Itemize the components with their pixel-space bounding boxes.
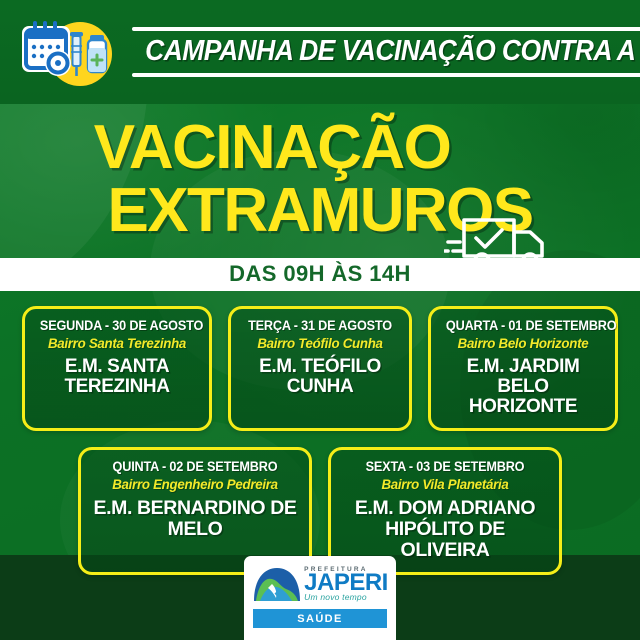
card-school: E.M. DOM ADRIANO HIPÓLITO DE OLIVEIRA [341,498,549,561]
logo-wordmark: PREFEITURA JAPERI Um novo tempo [304,567,388,602]
header-icon-cluster [14,10,118,96]
mountain-bird-logo-icon [252,565,302,603]
header-title-block: CAMPANHA DE VACINAÇÃO CONTRA A COVID-19 [118,27,640,77]
card-date: QUINTA - 02 DE SETEMBRO [97,459,293,474]
hero-section: VACINAÇÃO EXTRAMUROS [0,104,640,242]
schedule-row-1: SEGUNDA - 30 DE AGOSTO Bairro Santa Tere… [22,306,618,432]
header-rule-bottom [132,73,640,77]
card-date: SEGUNDA - 30 DE AGOSTO [40,318,194,333]
card-school: E.M. BERNARDINO DE MELO [91,498,299,540]
logo-row: PREFEITURA JAPERI Um novo tempo [253,563,387,605]
card-district: Bairro Santa Terezinha [39,335,195,351]
card-school: E.M. JARDIM BELO HORIZONTE [441,357,605,418]
schedule-cards: SEGUNDA - 30 DE AGOSTO Bairro Santa Tere… [0,306,640,576]
card-district: Bairro Engenheiro Pedreira [96,476,294,492]
calendar-clock-icon [22,21,71,76]
header-rule-top [132,27,640,31]
card-district: Bairro Teófilo Cunha [245,335,395,351]
card-district: Bairro Belo Horizonte [445,335,601,351]
vaccine-vial-icon [88,35,106,72]
schedule-card[interactable]: QUARTA - 01 DE SETEMBRO Bairro Belo Hori… [428,306,618,432]
card-date: SEXTA - 03 DE SETEMBRO [347,459,543,474]
card-school: E.M. TEÓFILO CUNHA [241,357,399,398]
schedule-card[interactable]: SEGUNDA - 30 DE AGOSTO Bairro Santa Tere… [22,306,212,432]
campaign-title: CAMPANHA DE VACINAÇÃO CONTRA A COVID-19 [145,37,640,67]
card-district: Bairro Vila Planetária [346,476,544,492]
poster-header: CAMPANHA DE VACINAÇÃO CONTRA A COVID-19 [0,0,640,104]
time-banner-text: DAS 09H ÀS 14H [229,261,411,287]
prefeitura-logo-card: PREFEITURA JAPERI Um novo tempo SAÚDE [244,556,396,640]
card-school: E.M. SANTA TEREZINHA [35,357,199,398]
schedule-card[interactable]: TERÇA - 31 DE AGOSTO Bairro Teófilo Cunh… [228,306,412,432]
hero-headline-line1: VACINAÇÃO [0,118,640,179]
card-date: QUARTA - 01 DE SETEMBRO [446,318,600,333]
department-label: SAÚDE [297,613,343,625]
time-banner: DAS 09H ÀS 14H [0,258,640,291]
vaccination-campaign-poster: CAMPANHA DE VACINAÇÃO CONTRA A COVID-19 … [0,0,640,640]
department-badge: SAÚDE [253,609,387,628]
card-date: TERÇA - 31 DE AGOSTO [246,318,395,333]
